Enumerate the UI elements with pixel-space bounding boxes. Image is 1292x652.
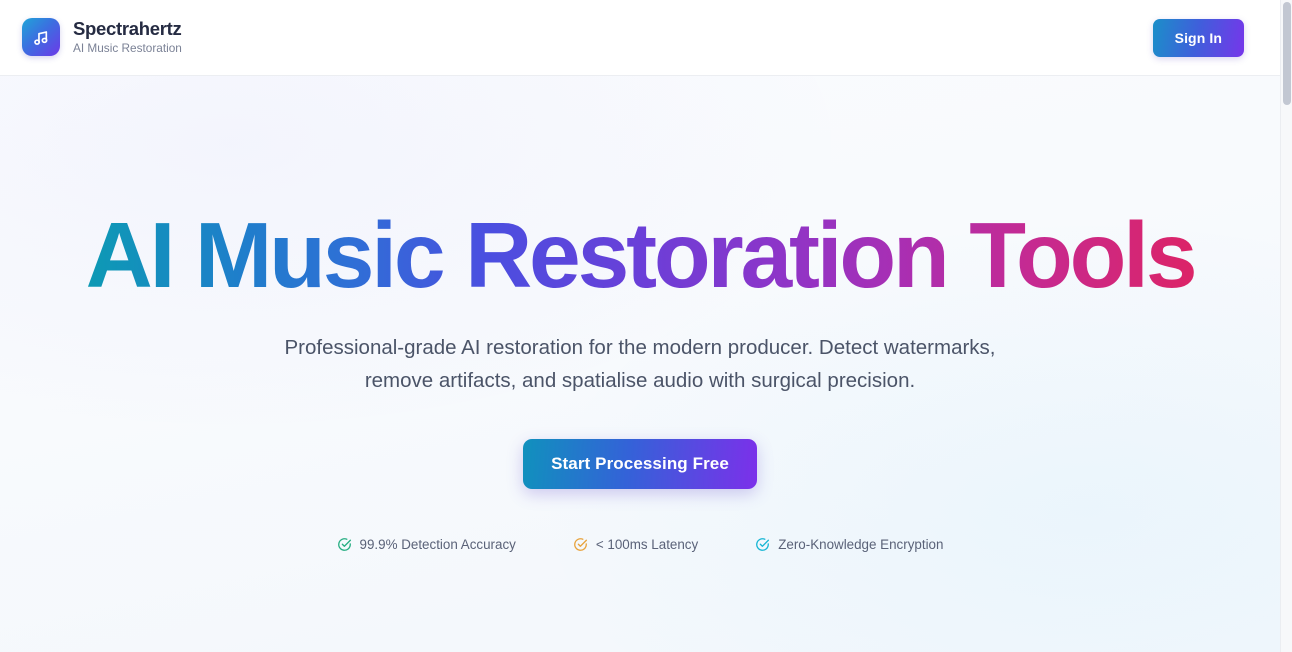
trust-badge-list: 99.9% Detection Accuracy < 100ms Latency (337, 537, 944, 552)
page-title: AI Music Restoration Tools (86, 205, 1195, 305)
brand-name: Spectrahertz (73, 18, 182, 39)
trust-badge-label: 99.9% Detection Accuracy (360, 537, 516, 552)
trust-badge-label: Zero-Knowledge Encryption (778, 537, 943, 552)
check-circle-icon (337, 537, 352, 552)
start-processing-button[interactable]: Start Processing Free (523, 439, 757, 489)
trust-badge-label: < 100ms Latency (596, 537, 698, 552)
check-circle-icon (755, 537, 770, 552)
music-note-icon (22, 18, 60, 56)
trust-badge-encryption: Zero-Knowledge Encryption (755, 537, 943, 552)
sign-in-button[interactable]: Sign In (1153, 19, 1244, 57)
brand-tagline: AI Music Restoration (73, 40, 182, 58)
site-header: Spectrahertz AI Music Restoration Sign I… (0, 0, 1280, 76)
scrollbar-thumb[interactable] (1283, 2, 1291, 105)
brand-logo[interactable]: Spectrahertz AI Music Restoration (22, 18, 182, 58)
vertical-scrollbar[interactable] (1280, 0, 1292, 652)
check-circle-icon (573, 537, 588, 552)
trust-badge-detection-accuracy: 99.9% Detection Accuracy (337, 537, 516, 552)
brand-text-block: Spectrahertz AI Music Restoration (73, 18, 182, 58)
page-root: Spectrahertz AI Music Restoration Sign I… (0, 0, 1280, 652)
hero-section: AI Music Restoration Tools Professional-… (0, 76, 1280, 652)
hero-subheadline: Professional-grade AI restoration for th… (280, 332, 1000, 397)
trust-badge-latency: < 100ms Latency (573, 537, 698, 552)
